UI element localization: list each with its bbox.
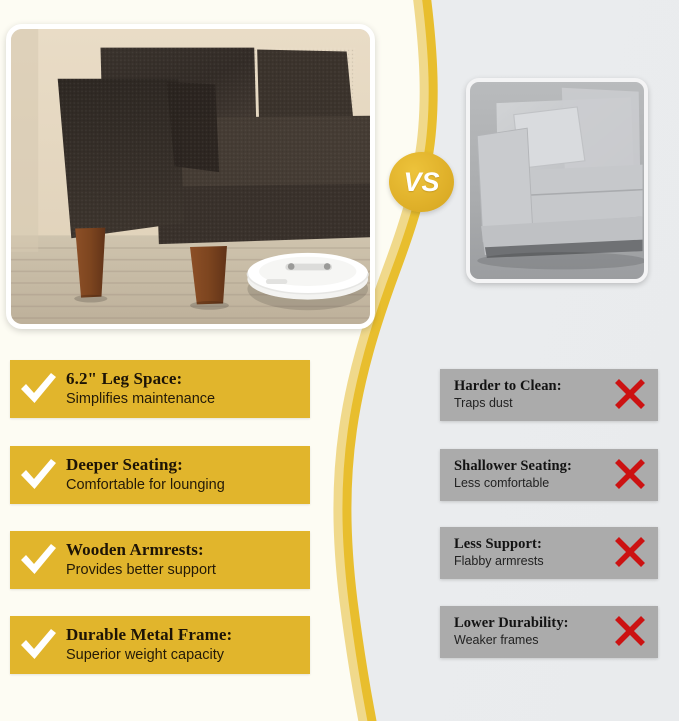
check-icon [10, 457, 66, 493]
con-card-text: Shallower Seating: Less comfortable [440, 458, 602, 492]
vs-badge: VS [389, 152, 454, 212]
con-card-text: Harder to Clean: Traps dust [440, 378, 602, 412]
pro-card-title: Durable Metal Frame: [66, 625, 304, 644]
pro-card-subtitle: Comfortable for lounging [66, 476, 304, 494]
pro-card-subtitle: Simplifies maintenance [66, 390, 304, 408]
con-card-title: Lower Durability: [454, 615, 602, 631]
pro-card-title: Deeper Seating: [66, 455, 304, 474]
x-icon [602, 537, 658, 569]
pro-card[interactable]: 6.2" Leg Space: Simplifies maintenance [10, 360, 310, 418]
pro-card-subtitle: Provides better support [66, 561, 304, 579]
con-card[interactable]: Harder to Clean: Traps dust [440, 369, 658, 421]
comparison-infographic: VS 6.2" Leg Space: Simplifies maintenanc… [0, 0, 679, 721]
con-card-title: Harder to Clean: [454, 378, 602, 394]
pro-card[interactable]: Wooden Armrests: Provides better support [10, 531, 310, 589]
x-icon [602, 616, 658, 648]
left-product-photo [6, 24, 375, 329]
pro-card-title: Wooden Armrests: [66, 540, 304, 559]
check-icon [10, 542, 66, 578]
pro-card[interactable]: Durable Metal Frame: Superior weight cap… [10, 616, 310, 674]
pro-card-text: Deeper Seating: Comfortable for lounging [66, 455, 310, 494]
pro-card-title: 6.2" Leg Space: [66, 369, 304, 388]
con-card-text: Lower Durability: Weaker frames [440, 615, 602, 649]
con-card[interactable]: Less Support: Flabby armrests [440, 527, 658, 579]
con-card-text: Less Support: Flabby armrests [440, 536, 602, 570]
x-icon [602, 379, 658, 411]
con-card[interactable]: Shallower Seating: Less comfortable [440, 449, 658, 501]
con-card-subtitle: Flabby armrests [454, 554, 602, 570]
pro-card-subtitle: Superior weight capacity [66, 646, 304, 664]
check-icon [10, 627, 66, 663]
pro-card-text: Wooden Armrests: Provides better support [66, 540, 310, 579]
con-card-title: Shallower Seating: [454, 458, 602, 474]
con-card-subtitle: Traps dust [454, 396, 602, 412]
con-card[interactable]: Lower Durability: Weaker frames [440, 606, 658, 658]
con-card-title: Less Support: [454, 536, 602, 552]
con-card-subtitle: Less comfortable [454, 476, 602, 492]
right-product-photo [466, 78, 648, 283]
con-card-subtitle: Weaker frames [454, 633, 602, 649]
check-icon [10, 371, 66, 407]
pro-card-text: Durable Metal Frame: Superior weight cap… [66, 625, 310, 664]
pro-card[interactable]: Deeper Seating: Comfortable for lounging [10, 446, 310, 504]
vs-label: VS [403, 169, 439, 196]
pro-card-text: 6.2" Leg Space: Simplifies maintenance [66, 369, 310, 408]
x-icon [602, 459, 658, 491]
